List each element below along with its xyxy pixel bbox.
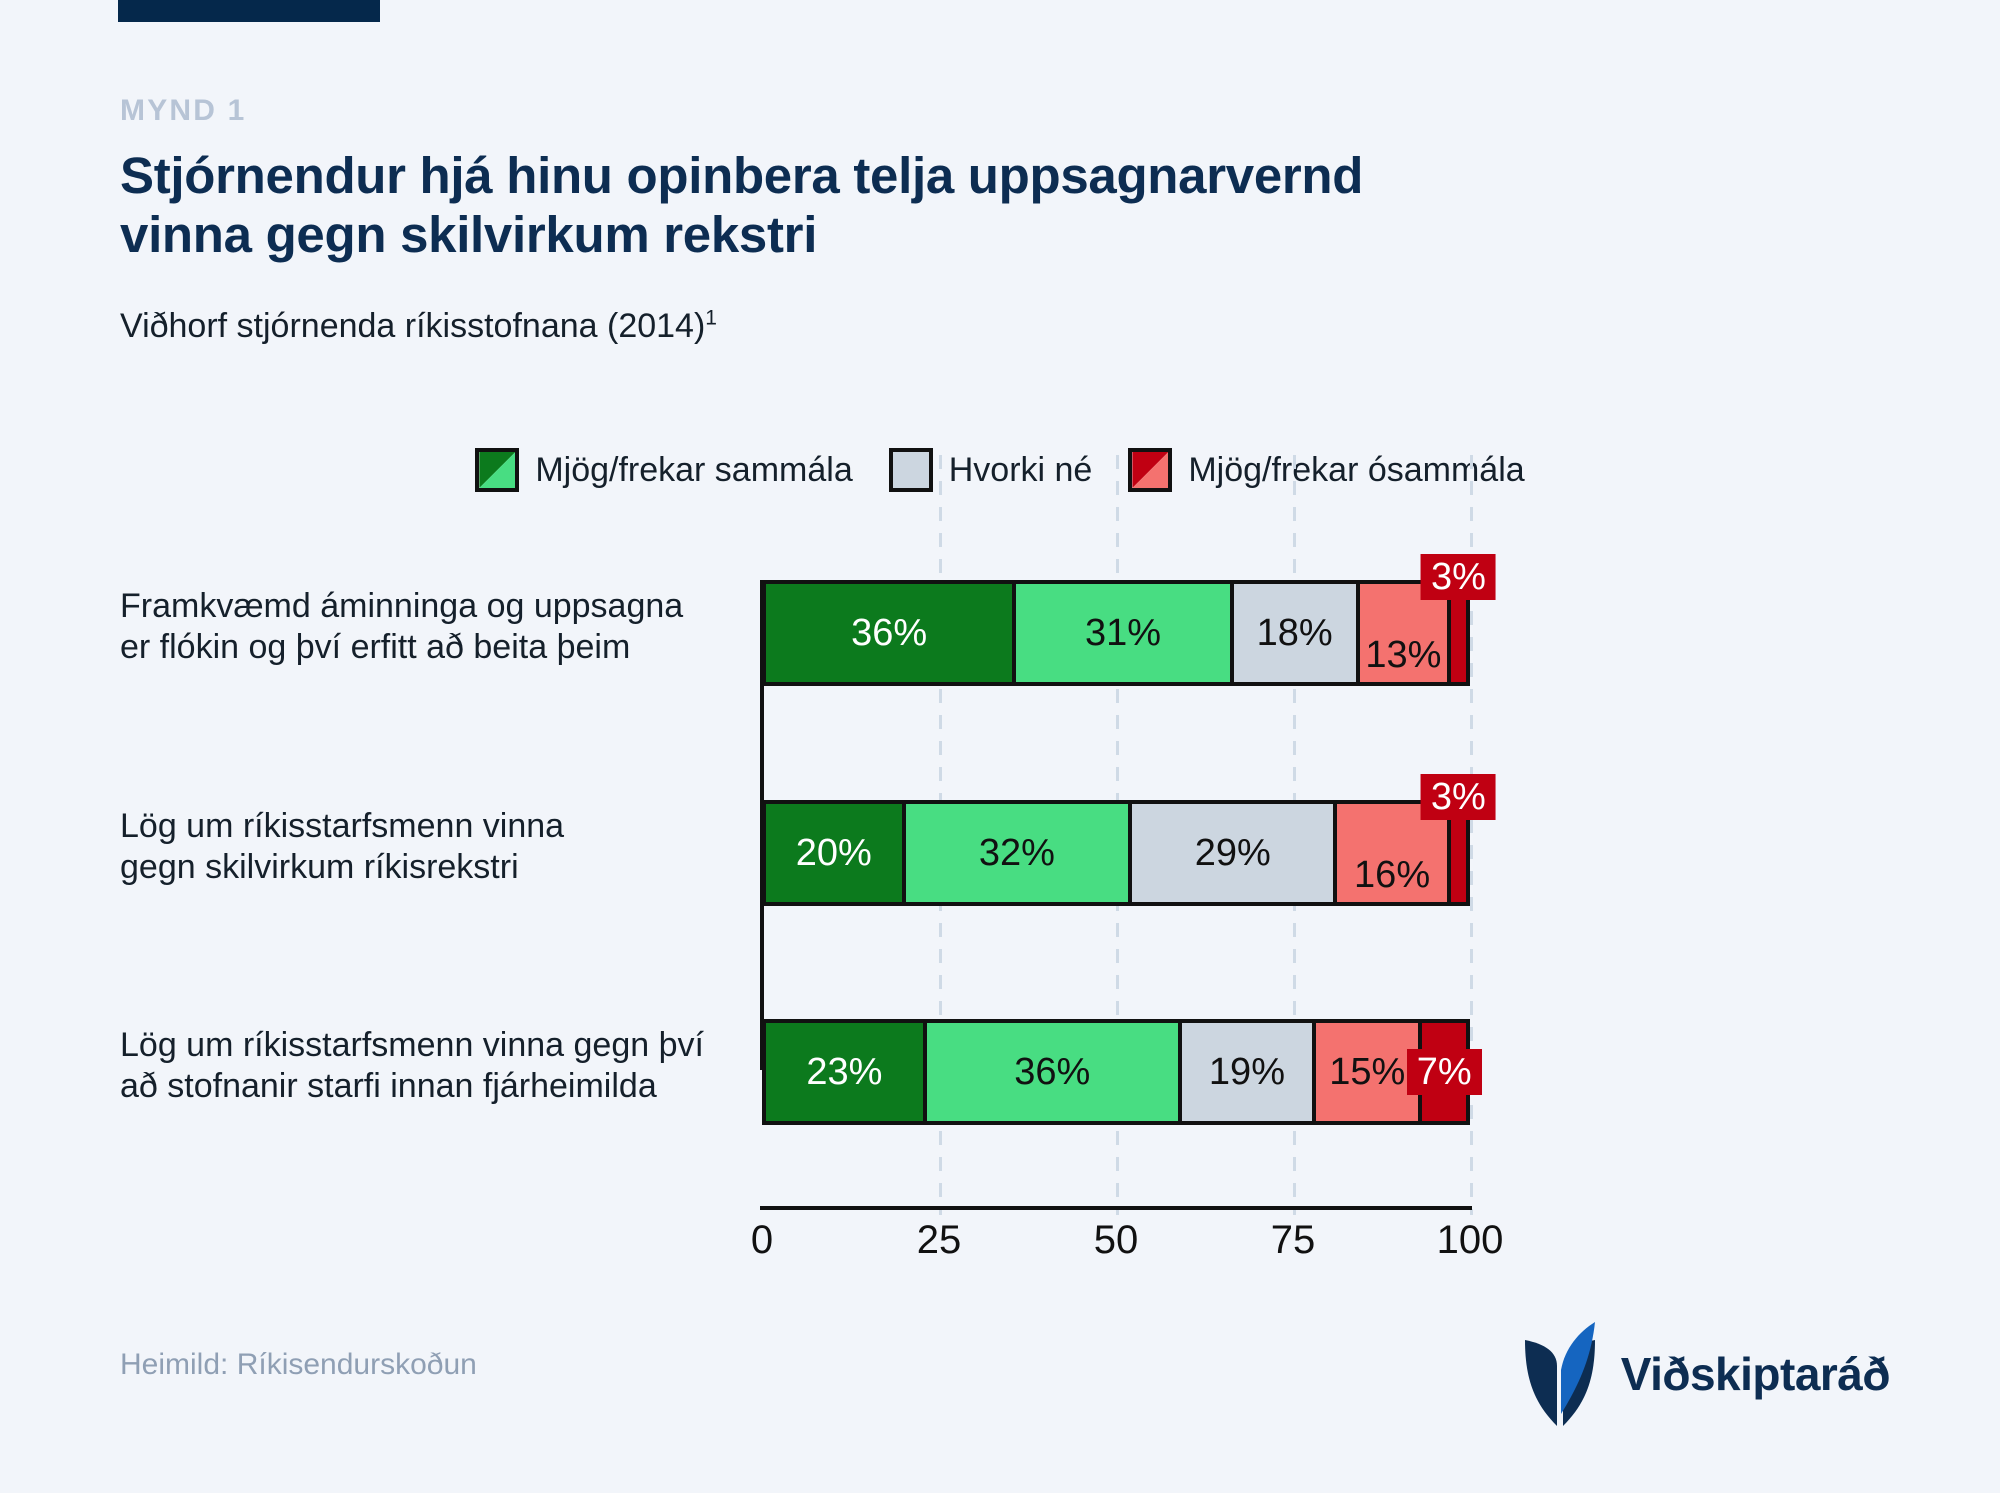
bar-row: 36%31%18%13%3% xyxy=(762,580,1470,686)
row-label: Framkvæmd áminninga og uppsagnaer flókin… xyxy=(120,586,740,669)
bar-segment: 18% xyxy=(1232,580,1358,686)
bar-segment: 15% xyxy=(1314,1019,1420,1125)
bar-segment-value: 32% xyxy=(979,834,1055,872)
chart-header: MYND 1 Stjórnendur hjá hinu opinbera tel… xyxy=(120,96,1620,347)
bar-segment: 29% xyxy=(1130,800,1335,906)
legend-label-disagree: Mjög/frekar ósammála xyxy=(1188,451,1524,490)
bar-segment: 32% xyxy=(904,800,1131,906)
bar-segment: 31% xyxy=(1014,580,1231,686)
row-label: Lög um ríkisstarfsmenn vinna gegn þvíað … xyxy=(120,1025,740,1108)
x-axis-ticks: 0255075100 xyxy=(762,1218,1470,1278)
headline-line-2: vinna gegn skilvirkum rekstri xyxy=(120,205,1620,264)
bar-segment-value: 19% xyxy=(1209,1053,1285,1091)
bar-segment-value: 16% xyxy=(1354,856,1430,894)
bar-segment: 36% xyxy=(762,580,1014,686)
bar-segment-value: 3% xyxy=(1421,774,1496,820)
legend-swatch-green-icon xyxy=(475,448,519,492)
bar-segment: 20% xyxy=(762,800,904,906)
bar-segment: 19% xyxy=(1180,1019,1315,1125)
bar-segment-value: 15% xyxy=(1329,1053,1405,1091)
x-axis-baseline xyxy=(760,1206,1472,1210)
legend-swatch-red-icon xyxy=(1128,448,1172,492)
subtitle-text: Viðhorf stjórnenda ríkisstofnana (2014) xyxy=(120,307,705,345)
bar-row: 20%32%29%16%3% xyxy=(762,800,1470,906)
bar-segment-value: 13% xyxy=(1365,636,1441,674)
bar-row: 23%36%19%15%7% xyxy=(762,1019,1470,1125)
top-accent-bar xyxy=(118,0,380,22)
row-label: Lög um ríkisstarfsmenn vinnagegn skilvir… xyxy=(120,806,740,889)
source-note: Heimild: Ríkisendurskoðun xyxy=(120,1348,477,1382)
brand-logo: Viðskiptaráð xyxy=(1521,1318,1890,1430)
bar-segment-value: 29% xyxy=(1195,834,1271,872)
bar-segment: 7% xyxy=(1420,1019,1470,1125)
subtitle-footnote-marker: 1 xyxy=(705,307,717,330)
legend-label-neutral: Hvorki né xyxy=(949,451,1093,490)
legend-swatch-gray-icon xyxy=(889,448,933,492)
page-title: Stjórnendur hjá hinu opinbera telja upps… xyxy=(120,146,1620,264)
bar-segment: 36% xyxy=(925,1019,1180,1125)
x-tick-100: 100 xyxy=(1437,1218,1504,1263)
bar-segment-value: 23% xyxy=(806,1053,882,1091)
brand-name: Viðskiptaráð xyxy=(1621,1347,1890,1401)
row-label-line-1: Lög um ríkisstarfsmenn vinna gegn því xyxy=(120,1025,740,1066)
row-label-line-2: er flókin og því erfitt að beita þeim xyxy=(120,627,740,668)
legend-item-agree: Mjög/frekar sammála xyxy=(475,448,852,492)
bar-segment-value: 36% xyxy=(851,614,927,652)
bar-segment-value: 18% xyxy=(1257,614,1333,652)
bar-segment-value: 36% xyxy=(1014,1053,1090,1091)
bar-segment-value: 3% xyxy=(1421,554,1496,600)
row-label-line-2: að stofnanir starfi innan fjárheimilda xyxy=(120,1066,740,1107)
headline-line-1: Stjórnendur hjá hinu opinbera telja upps… xyxy=(120,147,1363,204)
legend-item-disagree: Mjög/frekar ósammála xyxy=(1128,448,1524,492)
row-label-line-2: gegn skilvirkum ríkisrekstri xyxy=(120,847,740,888)
chart-legend: Mjög/frekar sammála Hvorki né Mjög/freka… xyxy=(0,448,2000,492)
kicker-label: MYND 1 xyxy=(120,96,1620,126)
vidskiptarad-leaf-icon xyxy=(1521,1318,1599,1430)
row-label-line-1: Framkvæmd áminninga og uppsagna xyxy=(120,586,740,627)
bar-segment: 3% xyxy=(1449,800,1470,906)
x-tick-0: 0 xyxy=(751,1218,773,1263)
legend-label-agree: Mjög/frekar sammála xyxy=(535,451,852,490)
bar-segment: 3% xyxy=(1449,580,1470,686)
x-tick-25: 25 xyxy=(917,1218,962,1263)
row-label-line-1: Lög um ríkisstarfsmenn vinna xyxy=(120,806,740,847)
legend-item-neutral: Hvorki né xyxy=(889,448,1093,492)
bar-segment-value: 7% xyxy=(1407,1049,1482,1095)
x-tick-75: 75 xyxy=(1271,1218,1316,1263)
bar-segment-value: 31% xyxy=(1085,614,1161,652)
chart-subtitle: Viðhorf stjórnenda ríkisstofnana (2014)1 xyxy=(120,306,1620,347)
bar-segment: 23% xyxy=(762,1019,925,1125)
bar-segment-value: 20% xyxy=(796,834,872,872)
x-tick-50: 50 xyxy=(1094,1218,1139,1263)
